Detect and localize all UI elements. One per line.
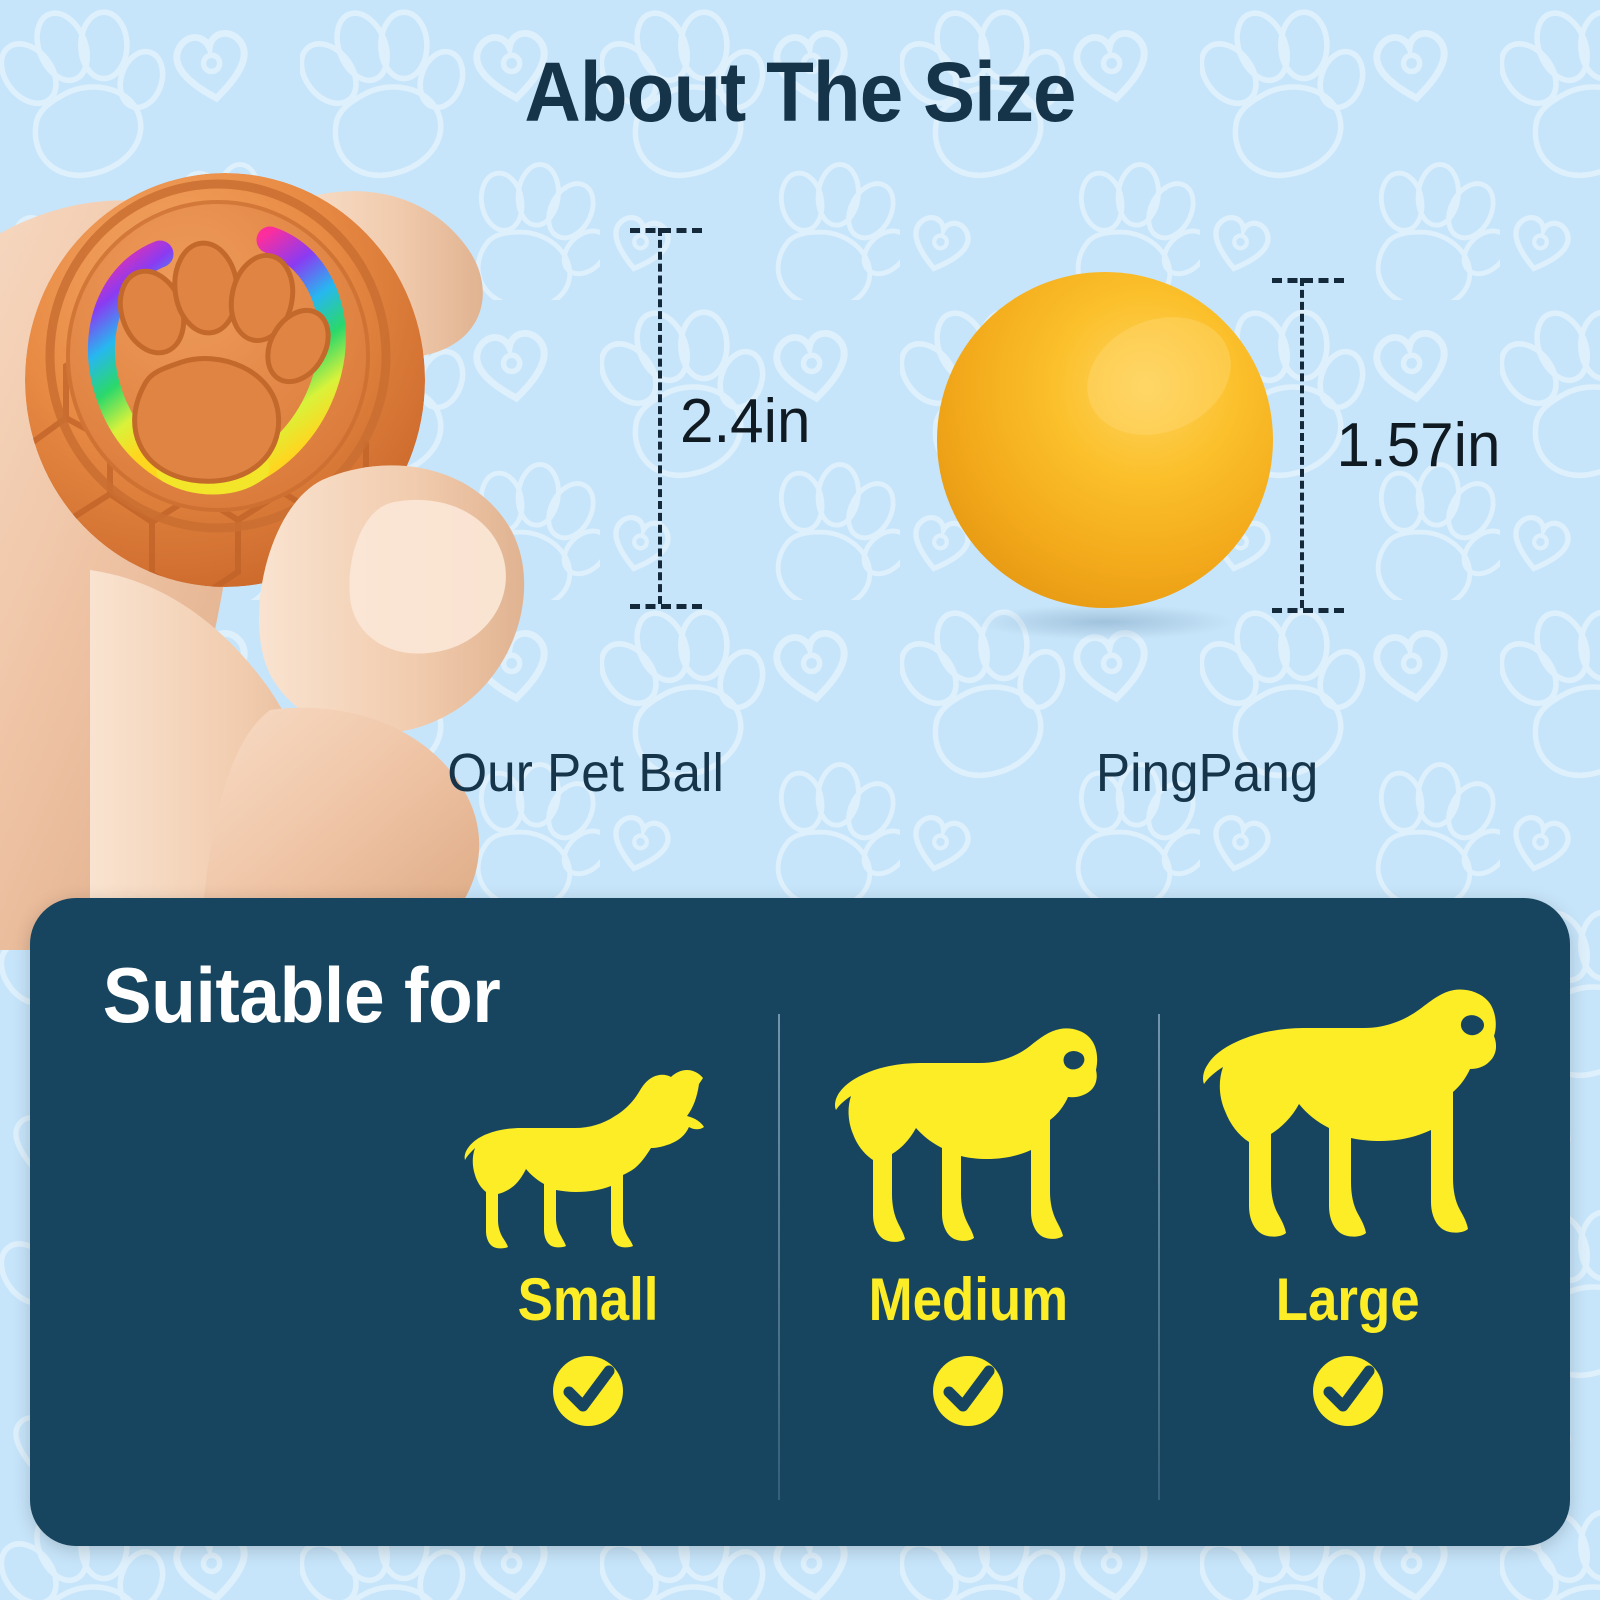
size-label-medium: Medium xyxy=(868,1270,1067,1330)
dog-silhouette-large-icon xyxy=(1192,1014,1504,1264)
size-column-large[interactable]: Large xyxy=(1158,1014,1538,1514)
size-label-large: Large xyxy=(1276,1270,1420,1330)
ping-pong-ball-image xyxy=(915,250,1295,640)
page-title: About The Size xyxy=(56,44,1544,141)
dimension-label-pingpang: 1.57in xyxy=(1337,410,1501,481)
check-badge-medium xyxy=(931,1354,1005,1432)
size-columns: Small Medium xyxy=(398,1014,1538,1514)
size-column-small[interactable]: Small xyxy=(398,1014,778,1514)
infographic-canvas: About The Size xyxy=(0,0,1600,1600)
caption-our-pet-ball: Our Pet Ball xyxy=(447,742,724,804)
check-badge-small xyxy=(551,1354,625,1432)
dog-silhouette-medium-icon xyxy=(830,1014,1106,1264)
dimension-label-pet-ball: 2.4in xyxy=(680,386,810,457)
size-column-medium[interactable]: Medium xyxy=(778,1014,1158,1514)
check-badge-large xyxy=(1311,1354,1385,1432)
dog-silhouette-small-icon xyxy=(463,1014,713,1264)
suitable-for-panel: Suitable for Small xyxy=(30,898,1570,1546)
pet-ball-in-hand-image xyxy=(0,150,610,950)
size-label-small: Small xyxy=(518,1270,659,1330)
caption-pingpang: PingPang xyxy=(1096,742,1318,804)
